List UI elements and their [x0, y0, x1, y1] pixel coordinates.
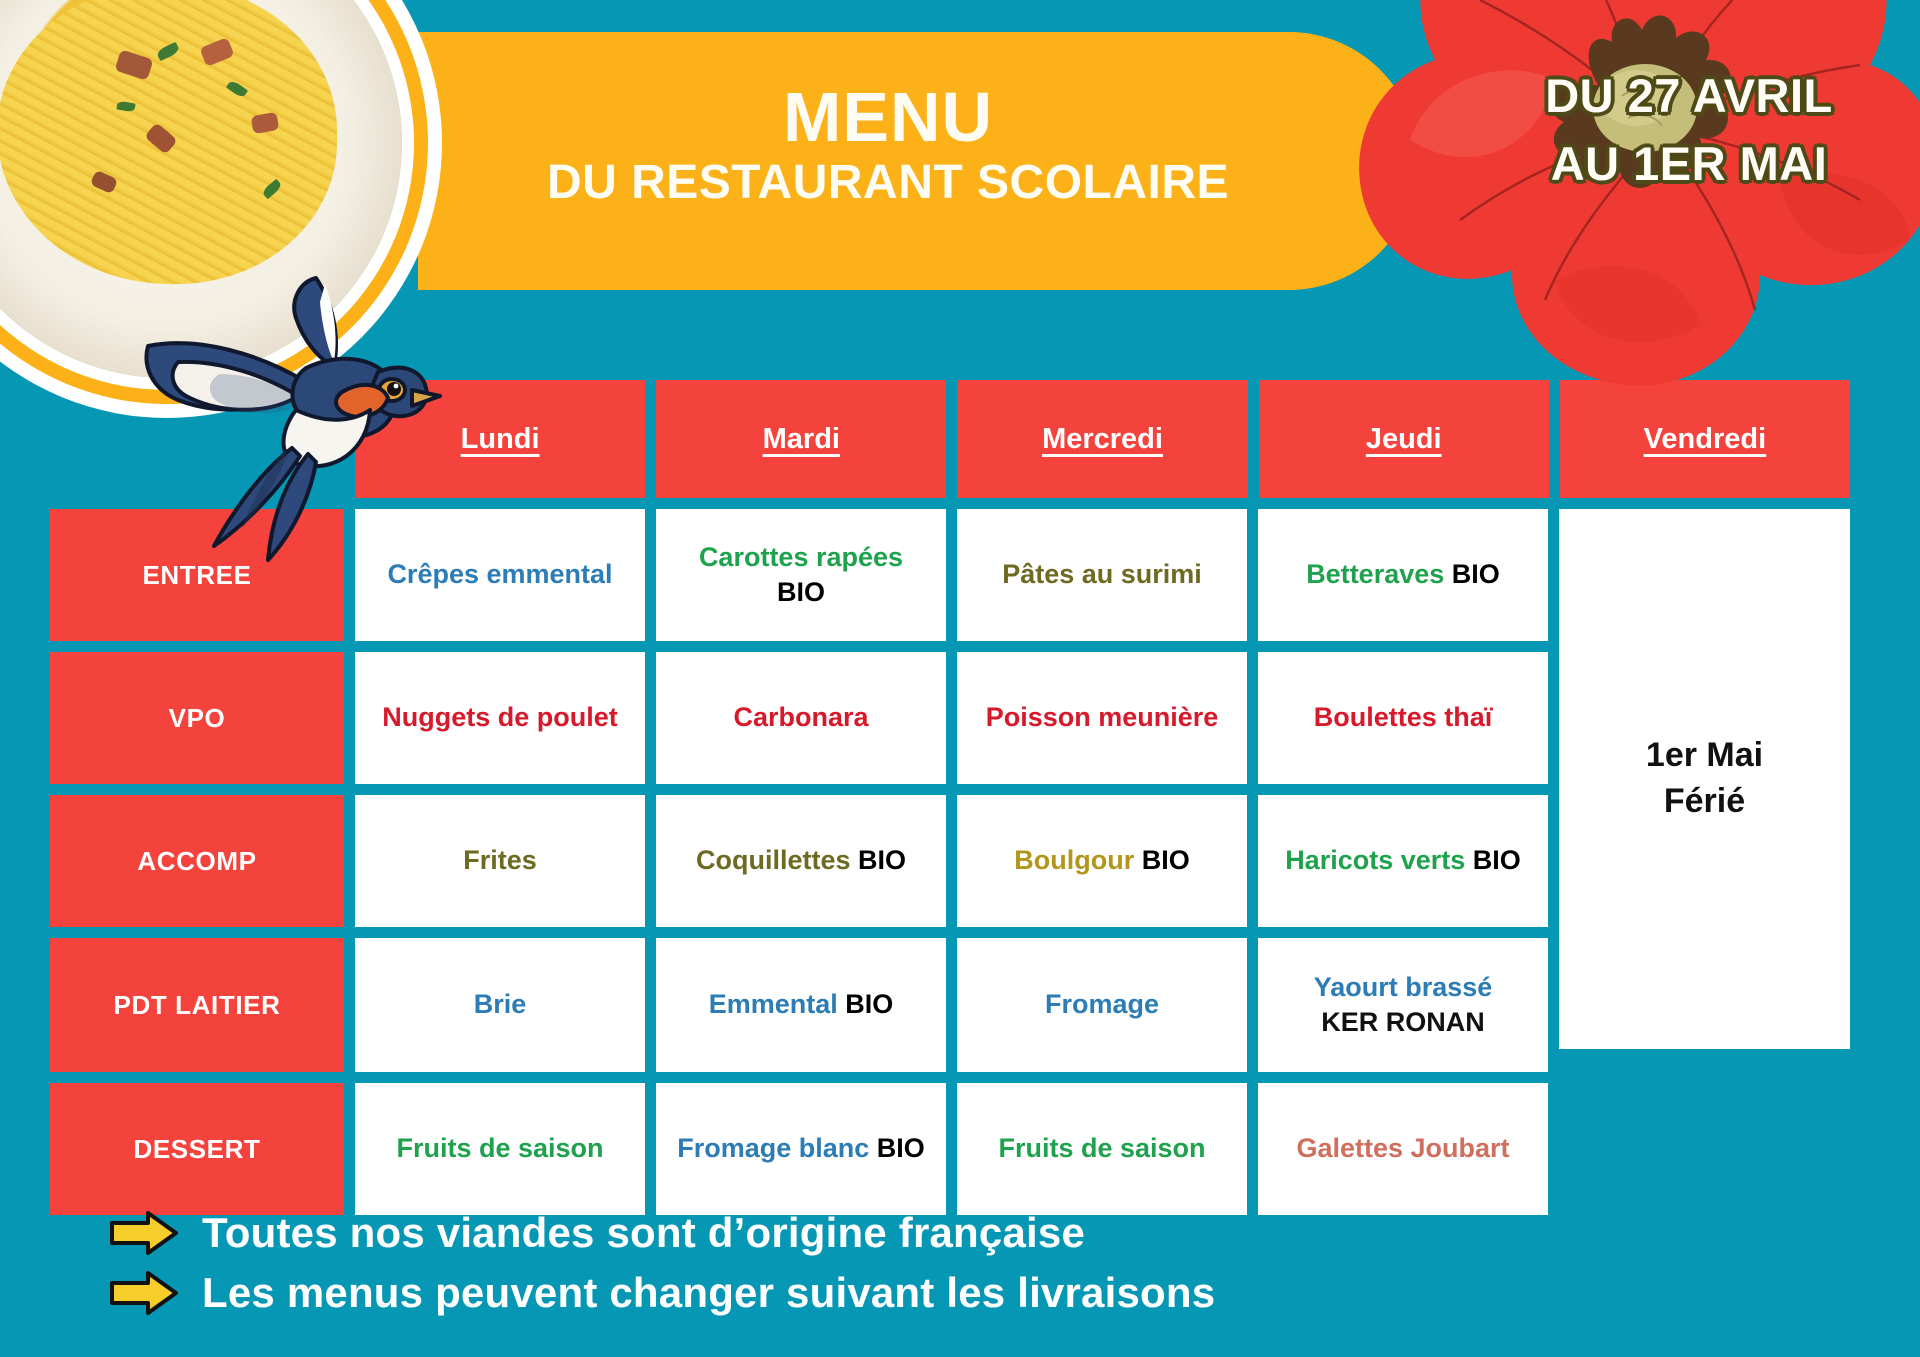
cell-entree-mercredi: Pâtes au surimi	[957, 509, 1247, 641]
footer-note-text: Toutes nos viandes sont d’origine frança…	[202, 1209, 1085, 1257]
footer-notes: Toutes nos viandes sont d’origine frança…	[108, 1209, 1215, 1329]
day-header-label: Mardi	[763, 423, 840, 456]
yellow-arrow-right-icon	[108, 1209, 180, 1257]
cell-accomp-jeudi: Haricots verts BIO	[1258, 795, 1548, 927]
dish-name: Carbonara	[733, 702, 868, 732]
title-banner: MENU DU RESTAURANT SCOLAIRE	[418, 32, 1418, 290]
cell-dessert-mardi: Fromage blanc BIO	[656, 1083, 946, 1215]
bio-label: BIO	[845, 989, 893, 1019]
bio-label: BIO	[877, 1133, 925, 1163]
dish-name: Frites	[463, 845, 537, 875]
row-label-dessert: DESSERT	[50, 1083, 344, 1215]
cell-entree-mardi: Carottes rapéesBIO	[656, 509, 946, 641]
dish-name: Nuggets de poulet	[382, 702, 618, 732]
bio-label: BIO	[1142, 845, 1190, 875]
day-header-label: Jeudi	[1366, 423, 1442, 456]
spacer-vendredi	[1559, 1083, 1850, 1215]
cell-dessert-lundi: Fruits de saison	[355, 1083, 645, 1215]
cell-accomp-mercredi: Boulgour BIO	[957, 795, 1247, 927]
day-header-label: Vendredi	[1644, 423, 1767, 456]
dish-name: Boulettes thaï	[1314, 702, 1493, 732]
row-label-accomp: ACCOMP	[50, 795, 344, 927]
cell-laitier-mercredi: Fromage	[957, 938, 1247, 1072]
holiday-cell-vendredi: 1er Mai Férié	[1559, 509, 1850, 1049]
dish-name: Fromage blanc	[677, 1133, 869, 1163]
holiday-line-1: 1er Mai	[1646, 733, 1763, 779]
spaghetti-illustration	[0, 0, 337, 284]
dish-name: Betteraves	[1306, 559, 1444, 589]
cell-dessert-jeudi: Galettes Joubart	[1258, 1083, 1548, 1215]
footer-note-text: Les menus peuvent changer suivant les li…	[202, 1269, 1215, 1317]
page-title: MENU	[418, 82, 1358, 153]
dish-name: Poisson meunière	[986, 702, 1219, 732]
cell-vpo-jeudi: Boulettes thaï	[1258, 652, 1548, 784]
yellow-arrow-right-icon	[108, 1269, 180, 1317]
cell-vpo-mardi: Carbonara	[656, 652, 946, 784]
dish-name: Haricots verts	[1285, 845, 1465, 875]
dish-name: Fruits de saison	[998, 1133, 1205, 1163]
dish-name: Emmental	[709, 989, 846, 1019]
header-zone: DU 27 AVRIL AU 1ER MAI MENU DU RESTAURAN…	[0, 0, 1920, 300]
cell-dessert-mercredi: Fruits de saison	[957, 1083, 1247, 1215]
dish-name: Fromage	[1045, 989, 1159, 1019]
row-label-vpo: VPO	[50, 652, 344, 784]
red-poppy-flower-icon	[1340, 0, 1920, 400]
dish-name: Yaourt brassé	[1314, 972, 1493, 1002]
bio-label: BIO	[1473, 845, 1521, 875]
cell-accomp-lundi: Frites	[355, 795, 645, 927]
dish-name: Boulgour	[1014, 845, 1134, 875]
date-line-2: AU 1ER MAI	[1484, 130, 1894, 198]
dish-name: Fruits de saison	[396, 1133, 603, 1163]
day-header-label: Lundi	[461, 423, 540, 456]
day-header-mardi: Mardi	[656, 380, 946, 498]
page-subtitle: DU RESTAURANT SCOLAIRE	[418, 153, 1358, 213]
date-range-badge: DU 27 AVRIL AU 1ER MAI	[1484, 62, 1894, 198]
footer-note-row: Toutes nos viandes sont d’origine frança…	[108, 1209, 1215, 1257]
dish-name: Pâtes au surimi	[1002, 559, 1202, 589]
holiday-line-2: Férié	[1646, 779, 1763, 825]
day-header-mercredi: Mercredi	[957, 380, 1247, 498]
cell-vpo-lundi: Nuggets de poulet	[355, 652, 645, 784]
dish-name: Coquillettes	[696, 845, 851, 875]
dish-brand: KER RONAN	[1314, 1005, 1493, 1040]
row-label-pdt-laitier: PDT LAITIER	[50, 938, 344, 1072]
footer-note-row: Les menus peuvent changer suivant les li…	[108, 1269, 1215, 1317]
cell-vpo-mercredi: Poisson meunière	[957, 652, 1247, 784]
cell-laitier-mardi: Emmental BIO	[656, 938, 946, 1072]
cell-laitier-jeudi: Yaourt brasséKER RONAN	[1258, 938, 1548, 1072]
dish-name: Galettes Joubart	[1296, 1133, 1509, 1163]
bio-label: BIO	[1452, 559, 1500, 589]
bio-label: BIO	[777, 577, 825, 607]
bio-label: BIO	[858, 845, 906, 875]
date-line-1: DU 27 AVRIL	[1484, 62, 1894, 130]
cell-accomp-mardi: Coquillettes BIO	[656, 795, 946, 927]
swallow-bird-icon	[120, 250, 460, 590]
dish-name: Brie	[474, 989, 527, 1019]
table-row: DESSERT Fruits de saison Fromage blanc B…	[50, 1083, 1850, 1215]
cell-entree-jeudi: Betteraves BIO	[1258, 509, 1548, 641]
dish-name: Carottes rapées	[699, 542, 903, 572]
day-header-label: Mercredi	[1042, 423, 1163, 456]
cell-laitier-lundi: Brie	[355, 938, 645, 1072]
